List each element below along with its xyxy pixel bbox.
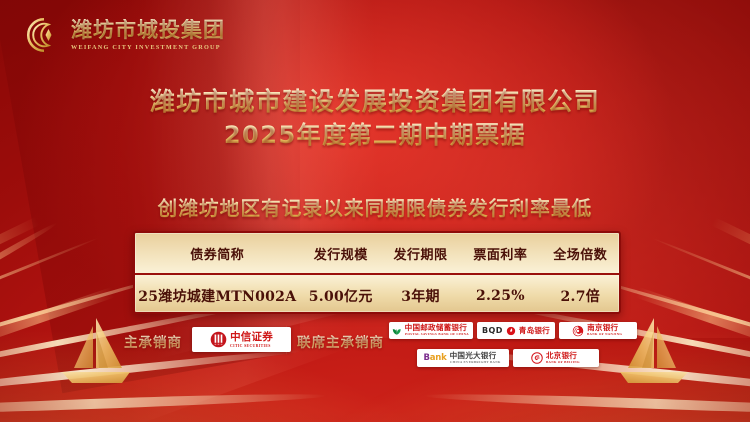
logo-postal-savings-bank: 中国邮政储蓄银行 POSTAL SAVINGS BANK OF CHINA [389,322,473,339]
logo-china-everbright-bank: Bank 中国光大银行 CHINA EVERBRIGHT BANK [417,349,509,367]
cell-coupon: 2.25% [459,274,541,314]
bank-of-nanjing-icon [572,325,584,337]
cell-bond-name: 25潍坊城建MTN002A [135,274,300,314]
bond-table: 债券简称 发行规模 发行期限 票面利率 全场倍数 25潍坊城建MTN002A 5… [133,231,621,314]
table-header-bond-name: 债券简称 [135,233,300,274]
logo-psbc-name-cn: 中国邮政储蓄银行 [405,324,472,332]
everbright-bank-icon: Bank [423,353,446,363]
table-header-term: 发行期限 [382,233,459,274]
table-header-row: 债券简称 发行规模 发行期限 票面利率 全场倍数 [135,233,619,274]
logo-nanjing-name-cn: 南京银行 [587,324,624,332]
celebration-poster: 潍坊市城投集团 WEIFANG CITY INVESTMENT GROUP 热烈… [0,0,750,422]
bqd-mark-icon [506,326,516,336]
headline-company: 潍坊市城市建设发展投资集团有限公司 [0,82,750,118]
logo-bank-of-beijing: 北京银行 BANK OF BEIJING [513,349,599,367]
headline-claim: 创潍坊地区有记录以来同期限债券发行利率最低 [0,192,750,221]
joint-underwriter-label: 联席主承销商 [297,331,384,351]
logo-bank-of-qingdao: BQD 青岛银行 [477,322,555,339]
logo-ceb-name-cn: 中国光大银行 [450,352,503,360]
bank-of-beijing-icon [531,352,543,364]
table-row: 25潍坊城建MTN002A 5.00亿元 3年期 2.25% 2.7倍 [135,274,619,314]
logo-ceb-name-en: CHINA EVERBRIGHT BANK [450,361,501,364]
headline-success: 发行成功 [0,144,750,180]
cell-multiple: 2.7倍 [542,274,619,314]
table-header-coupon: 票面利率 [459,233,541,274]
logo-nanjing-name-en: BANK OF NANJING [587,333,622,336]
logo-bqd-mark: BQD [482,326,503,335]
cell-issue-size: 5.00亿元 [300,274,382,314]
table-header-issue-size: 发行规模 [300,233,382,274]
logo-bqd-name-cn: 青岛银行 [519,327,550,335]
logo-beijing-name-cn: 北京银行 [546,352,581,360]
logo-beijing-name-en: BANK OF BEIJING [546,361,580,364]
cell-term: 3年期 [382,274,459,314]
psbc-sprout-icon [391,325,402,336]
logo-psbc-name-en: POSTAL SAVINGS BANK OF CHINA [405,333,469,336]
headline-congrats: 热烈庆祝 [0,21,750,61]
lead-underwriter-label: 主承销商 [124,331,182,351]
logo-citic-name-en: CITIC SECURITIES [230,344,271,348]
table-header-multiple: 全场倍数 [542,233,619,274]
logo-citic-securities: 中信证券 CITIC SECURITIES [192,327,291,352]
logo-bank-of-nanjing: 南京银行 BANK OF NANJING [559,322,637,339]
citic-securities-icon [210,331,227,348]
logo-citic-name-cn: 中信证券 [230,332,273,343]
